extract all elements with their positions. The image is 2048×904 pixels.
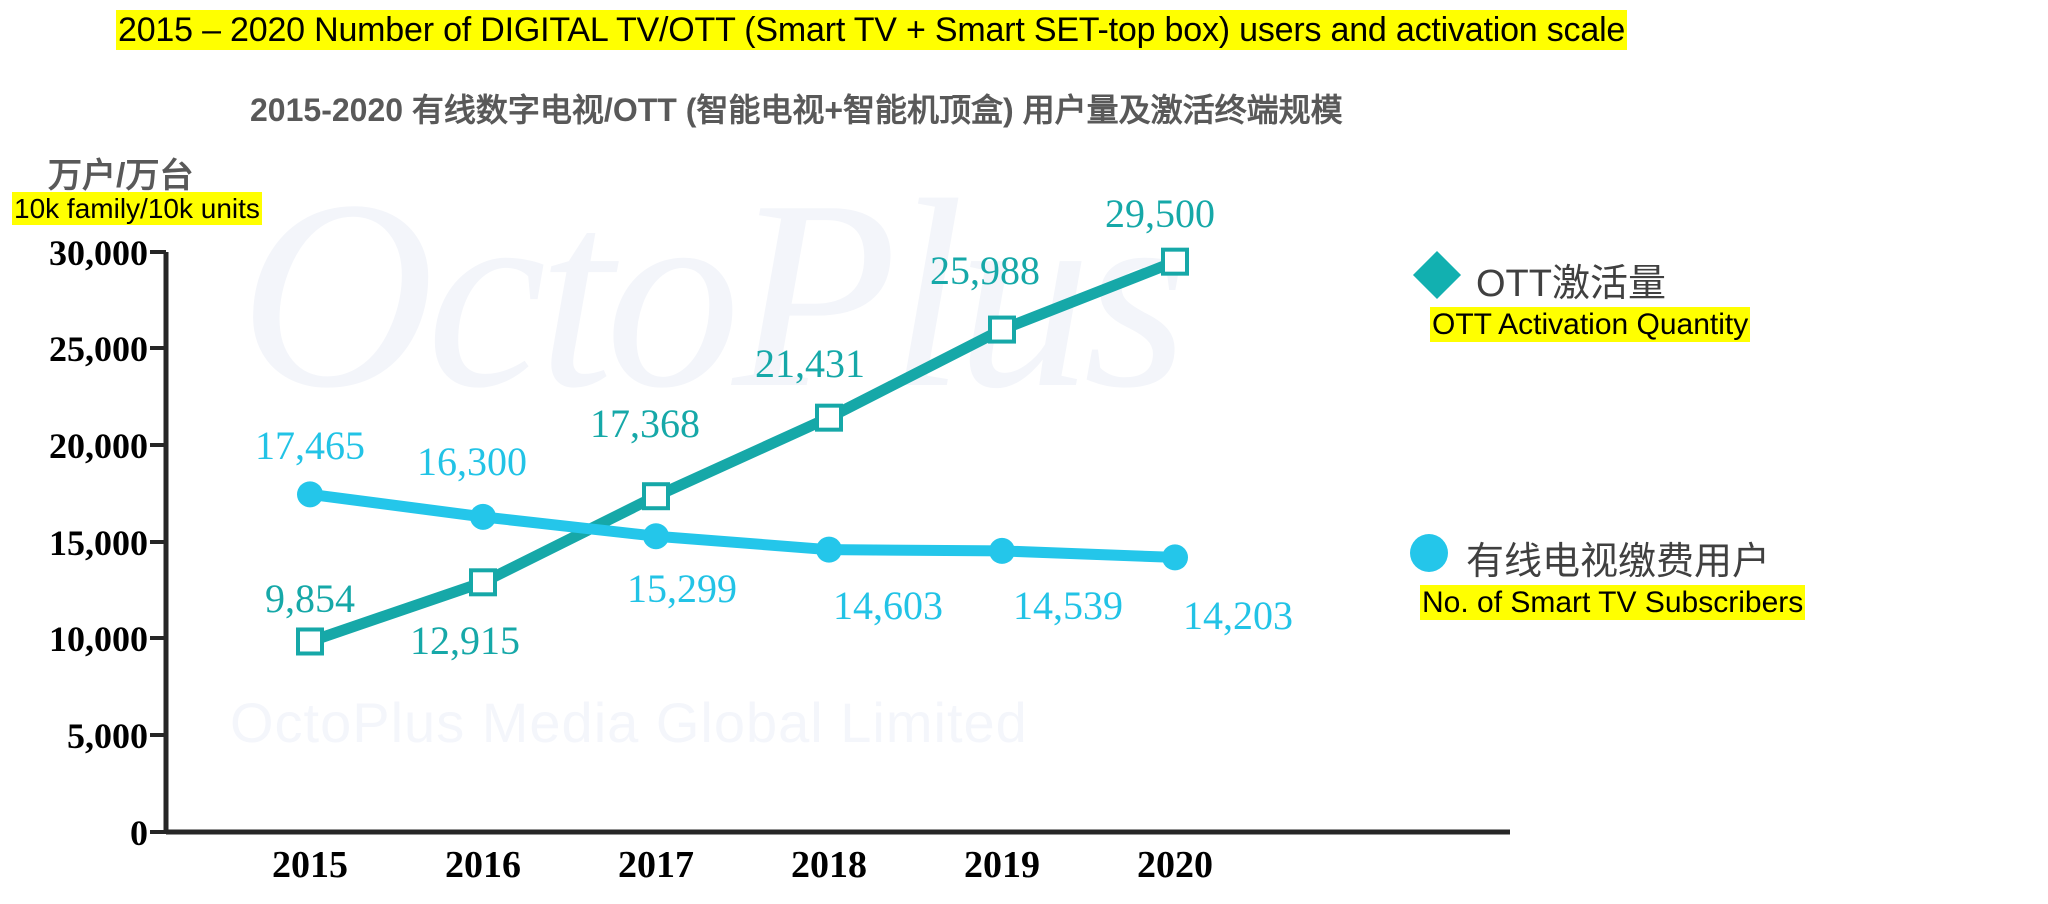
data-point-ott-2015	[298, 629, 322, 653]
legend-sublabel-cable: No. of Smart TV Subscribers	[1420, 586, 1805, 620]
chart-page: OctoPlus OctoPlus Media Global Limited 2…	[0, 0, 2048, 904]
legend-sublabel-ott: OTT Activation Quantity	[1430, 308, 1750, 342]
x-tick-2019: 2019	[902, 843, 1102, 887]
series-line-cable	[310, 494, 1175, 557]
data-label-ott-2018: 21,431	[690, 340, 930, 387]
y-tick-5000: 5,000	[0, 715, 148, 757]
data-point-ott-2020	[1163, 250, 1187, 274]
data-point-cable-2018	[816, 537, 842, 563]
data-label-cable-2016: 16,300	[352, 438, 592, 485]
y-tick-25000: 25,000	[0, 328, 148, 370]
y-tick-15000: 15,000	[0, 522, 148, 564]
y-tick-20000: 20,000	[0, 425, 148, 467]
data-label-cable-2017: 15,299	[562, 565, 802, 612]
legend-sublabel-cable-text: No. of Smart TV Subscribers	[1420, 585, 1805, 620]
y-tick-10000: 10,000	[0, 618, 148, 660]
data-point-ott-2018	[817, 406, 841, 430]
data-point-cable-2017	[643, 523, 669, 549]
data-point-ott-2016	[471, 570, 495, 594]
data-label-ott-2020: 29,500	[1040, 190, 1280, 237]
x-tick-2015: 2015	[210, 843, 410, 887]
data-label-cable-2020: 14,203	[1118, 592, 1358, 639]
circle-marker-icon	[1410, 534, 1448, 572]
data-label-ott-2015: 9,854	[190, 575, 430, 622]
data-point-cable-2015	[297, 481, 323, 507]
data-point-cable-2020	[1162, 544, 1188, 570]
x-tick-2017: 2017	[556, 843, 756, 887]
legend-label-cable: 有线电视缴费用户	[1466, 530, 1770, 585]
legend-sublabel-ott-text: OTT Activation Quantity	[1430, 307, 1750, 342]
x-tick-2016: 2016	[383, 843, 583, 887]
x-tick-2018: 2018	[729, 843, 929, 887]
y-axis-tick-labels: 30,000 25,000 20,000 15,000 10,000 5,000…	[0, 0, 148, 904]
y-tick-0: 0	[0, 812, 148, 854]
data-label-ott-2016: 12,915	[345, 617, 585, 664]
x-tick-2020: 2020	[1075, 843, 1275, 887]
data-point-cable-2016	[470, 504, 496, 530]
data-label-ott-2019: 25,988	[865, 247, 1105, 294]
y-tick-30000: 30,000	[0, 232, 148, 274]
data-point-ott-2017	[644, 484, 668, 508]
data-point-ott-2019	[990, 318, 1014, 342]
data-point-cable-2019	[989, 538, 1015, 564]
legend-label-ott: OTT激活量	[1476, 252, 1666, 307]
